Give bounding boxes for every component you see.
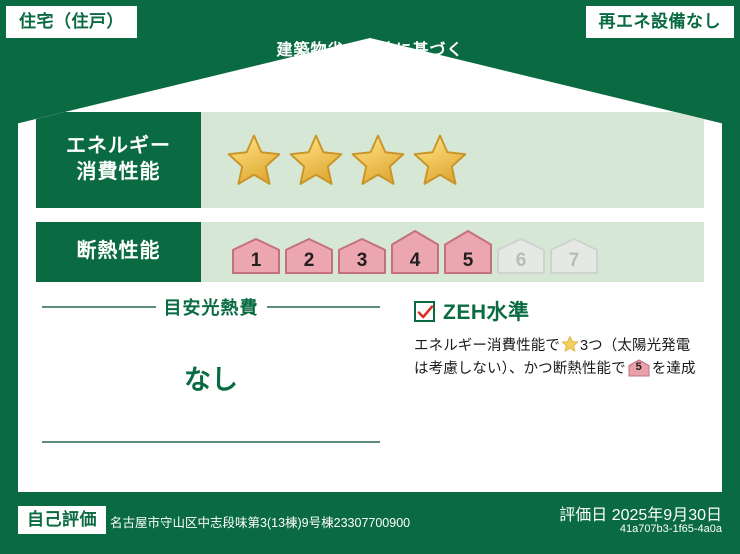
star-icon: [561, 335, 579, 353]
utility-cost-value: なし: [42, 358, 380, 397]
renewable-energy-tag: 再エネ設備なし: [586, 6, 735, 38]
insulation-level-badge-number: 5: [628, 359, 650, 377]
insulation-level-number: 6: [516, 251, 527, 275]
insulation-level-6: 6: [496, 237, 546, 275]
panel-content: エネルギー 消費性能 断熱性能 1234567: [18, 98, 722, 492]
insulation-level-number: 3: [357, 251, 368, 275]
zeh-description: エネルギー消費性能で3つ（太陽光発電は考慮しない）、かつ断熱性能で5を達成: [414, 335, 714, 382]
check-icon: [417, 304, 434, 321]
rule-left: [42, 306, 156, 308]
energy-performance-label-box: エネルギー 消費性能: [36, 112, 201, 208]
insulation-level-2: 2: [284, 237, 334, 275]
insulation-level-number: 1: [251, 251, 262, 275]
energy-performance-value: [201, 112, 704, 208]
star-icon: [287, 132, 345, 188]
insulation-level-1: 1: [231, 237, 281, 275]
zeh-title-row: ZEH水準: [414, 296, 714, 326]
energy-performance-label: エネルギー 消費性能 断熱性能 1234567: [0, 0, 740, 554]
insulation-performance-value: 1234567: [201, 222, 704, 282]
star-icon: [225, 132, 283, 188]
insulation-level-number: 5: [463, 251, 474, 275]
zeh-desc-part4: を達成: [652, 361, 696, 377]
building-type-tag: 住宅（住戸）: [6, 6, 137, 38]
insulation-level-scale: 1234567: [225, 229, 599, 275]
insulation-level-number: 4: [410, 251, 421, 275]
energy-label-line1: エネルギー: [66, 134, 171, 160]
zeh-desc-part1: エネルギー消費性能で: [414, 338, 560, 354]
zeh-checkbox[interactable]: [414, 301, 435, 322]
evaluation-date: 評価日 2025年9月30日: [559, 501, 722, 525]
zeh-title: ZEH水準: [443, 296, 530, 326]
evaluation-id: 41a707b3-1f65-4a0a: [620, 523, 722, 535]
energy-performance-row: エネルギー 消費性能: [36, 112, 704, 208]
self-evaluation-badge: 自己評価: [18, 506, 106, 534]
header-subtitle: 建築物省エネ法に基づく: [0, 36, 740, 60]
zeh-desc-part3: は考慮しない）、かつ断熱性能で: [414, 361, 626, 377]
insulation-level-5: 5: [443, 229, 493, 275]
insulation-level-3: 3: [337, 237, 387, 275]
insulation-label: 断熱性能: [77, 239, 161, 265]
zeh-desc-part2: 3つ（太陽光発電: [580, 338, 690, 354]
insulation-level-7: 7: [549, 237, 599, 275]
insulation-performance-label-box: 断熱性能: [36, 222, 201, 282]
property-address: 名古屋市守山区中志段味第3(13棟)9号棟23307700900: [110, 512, 410, 531]
insulation-level-number: 2: [304, 251, 315, 275]
star-icon: [411, 132, 469, 188]
rule-right: [267, 306, 381, 308]
insulation-level-badge: 5: [628, 359, 650, 377]
insulation-level-4: 4: [390, 229, 440, 275]
star-rating: [225, 132, 469, 188]
energy-label-line2: 消費性能: [77, 160, 161, 186]
zeh-section: ZEH水準 エネルギー消費性能で3つ（太陽光発電は考慮しない）、かつ断熱性能で5…: [414, 296, 714, 382]
utility-cost-section: 目安光熱費 なし: [42, 294, 380, 443]
utility-cost-heading-text: 目安光熱費: [164, 294, 259, 320]
utility-cost-bottom-rule: [42, 441, 380, 443]
insulation-level-number: 7: [569, 251, 580, 275]
page-title: 省エネ性能ラベル: [0, 65, 740, 107]
label-footer: 自己評価 名古屋市守山区中志段味第3(13棟)9号棟23307700900 評価…: [0, 492, 740, 554]
star-icon: [349, 132, 407, 188]
label-header: 建築物省エネ法に基づく 省エネ性能ラベル: [0, 36, 740, 107]
insulation-performance-row: 断熱性能 1234567: [36, 222, 704, 282]
utility-cost-heading: 目安光熱費: [42, 294, 380, 320]
